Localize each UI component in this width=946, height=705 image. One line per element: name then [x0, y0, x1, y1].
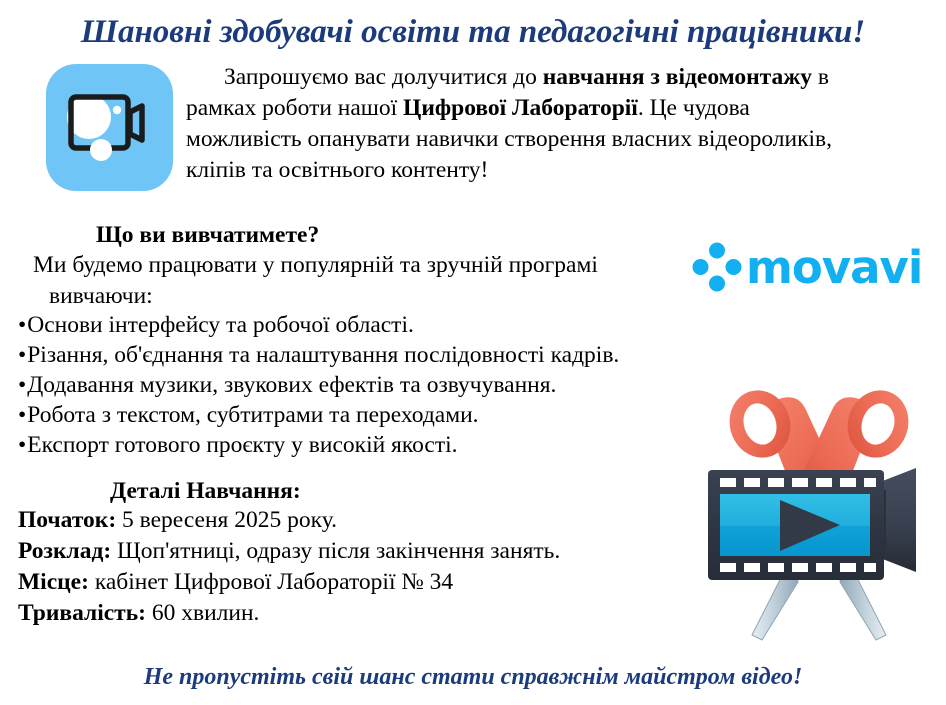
video-camera-icon: [44, 62, 175, 193]
movavi-logo: movavi: [692, 241, 924, 293]
bullet-icon: •: [18, 312, 26, 338]
detail-key: Початок:: [18, 507, 116, 533]
bullet-icon: •: [18, 432, 26, 458]
page-title: Шановні здобувачі освіти та педагогічні …: [0, 14, 946, 51]
detail-row-place: Місце: кабінет Цифрової Лабораторії № 34: [18, 567, 658, 598]
detail-row-start: Початок: 5 вересеня 2025 року.: [18, 505, 658, 536]
bullet-icon: •: [18, 372, 26, 398]
detail-key: Тривалість:: [18, 600, 146, 626]
details-heading: Деталі Навчання:: [110, 478, 301, 505]
intro-text-1: Запрошуємо вас долучитися до: [224, 64, 543, 90]
list-item: •Різання, об'єднання та налаштування пос…: [18, 340, 718, 370]
list-item: •Робота з текстом, субтитрами та переход…: [18, 400, 718, 430]
bullet-icon: •: [18, 402, 26, 428]
detail-row-duration: Тривалість: 60 хвилин.: [18, 598, 658, 629]
bullet-icon: •: [18, 342, 26, 368]
intro-bold-2: Цифрової Лабораторії: [403, 95, 638, 121]
footer-callout: Не пропустіть свій шанс стати справжнім …: [0, 664, 946, 691]
poster-canvas: Шановні здобувачі освіти та педагогічні …: [0, 0, 946, 705]
list-item-label: Основи інтерфейсу та робочої області.: [27, 312, 414, 338]
lead-line-1: Ми будемо працювати у популярній та зруч…: [33, 252, 598, 278]
detail-key: Розклад:: [18, 538, 111, 564]
detail-value: 60 хвилин.: [146, 600, 259, 626]
list-item: •Додавання музики, звукових ефектів та о…: [18, 370, 718, 400]
list-item-label: Робота з текстом, субтитрами та перехода…: [27, 402, 478, 428]
detail-value: 5 вересеня 2025 року.: [116, 507, 337, 533]
detail-value: кабінет Цифрової Лабораторії № 34: [89, 569, 453, 595]
topics-list: •Основи інтерфейсу та робочої області. •…: [18, 310, 718, 460]
film-camera-scissors-icon: [694, 372, 944, 657]
list-item-label: Додавання музики, звукових ефектів та оз…: [27, 372, 556, 398]
movavi-dots-icon: [692, 242, 742, 292]
detail-key: Місце:: [18, 569, 89, 595]
detail-row-schedule: Розклад: Щоп'ятниці, одразу після закінч…: [18, 536, 658, 567]
lead-line-2: вивчаючи:: [33, 281, 713, 312]
intro-bold-1: навчання з відеомонтажу: [543, 64, 812, 90]
intro-paragraph: Запрошуємо вас долучитися до навчання з …: [186, 62, 858, 186]
section-lead: Ми будемо працювати у популярній та зруч…: [33, 250, 713, 312]
details-list: Початок: 5 вересеня 2025 року. Розклад: …: [18, 505, 658, 629]
section-heading: Що ви вивчатимете?: [96, 220, 319, 250]
movavi-wordmark: movavi: [746, 245, 922, 290]
list-item-label: Різання, об'єднання та налаштування посл…: [27, 342, 619, 368]
list-item-label: Експорт готового проєкту у високій якост…: [27, 432, 457, 458]
list-item: •Експорт готового проєкту у високій якос…: [18, 430, 718, 460]
list-item: •Основи інтерфейсу та робочої області.: [18, 310, 718, 340]
detail-value: Щоп'ятниці, одразу після закінчення заня…: [111, 538, 560, 564]
